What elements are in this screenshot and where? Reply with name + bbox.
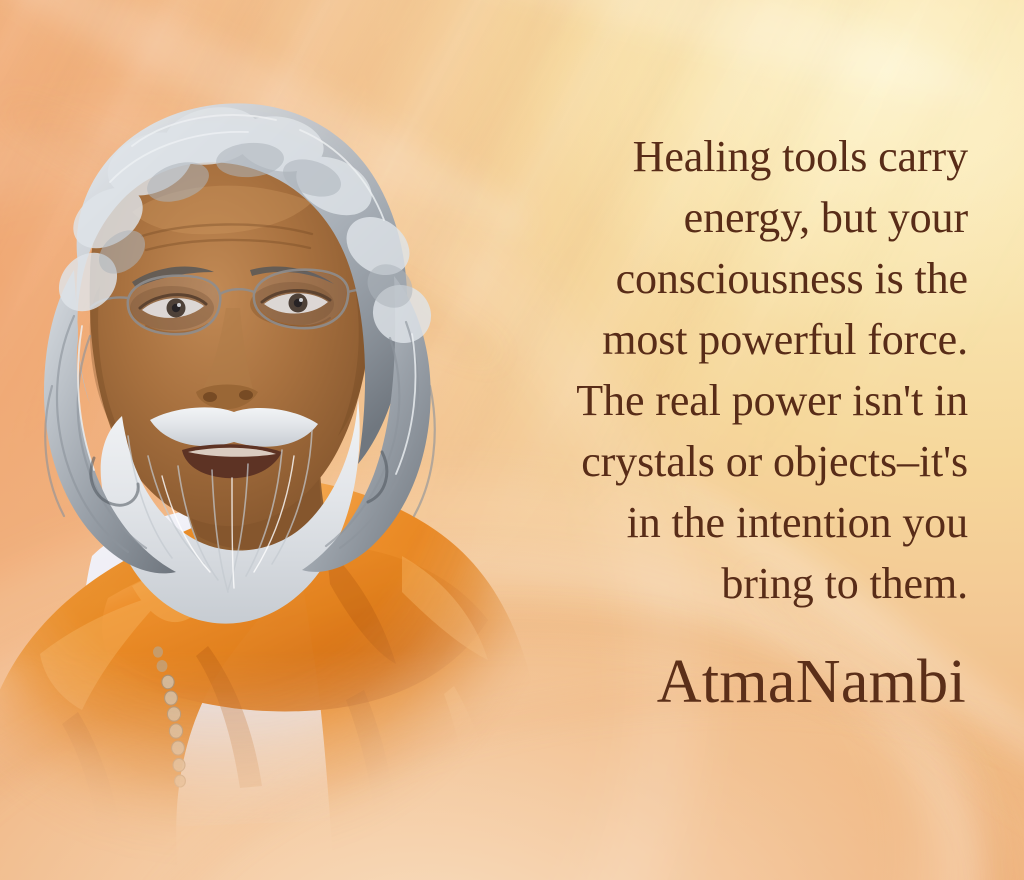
quote-card: Healing tools carry energy, but your con…	[0, 0, 1024, 880]
quote-line: bring to them.	[498, 553, 968, 614]
quote-line: energy, but your	[498, 187, 968, 248]
quote-line: consciousness is the	[498, 248, 968, 309]
quote-line: most powerful force.	[498, 309, 968, 370]
quote-line: Healing tools carry	[498, 126, 968, 187]
portrait-photo	[0, 86, 562, 880]
quote-text: Healing tools carry energy, but your con…	[498, 126, 968, 614]
quote-line: crystals or objects–it's	[498, 431, 968, 492]
author-signature: AtmaNambi	[657, 642, 966, 722]
quote-line: The real power isn't in	[498, 370, 968, 431]
quote-line: in the intention you	[498, 492, 968, 553]
